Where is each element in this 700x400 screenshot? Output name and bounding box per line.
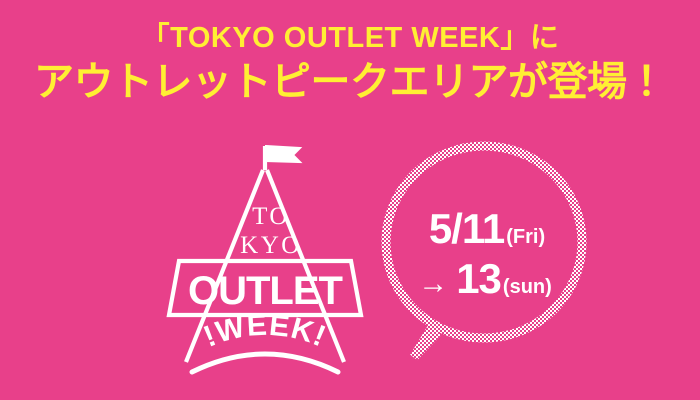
headline-line-2: アウトレットピークエリアが登場！	[0, 62, 700, 102]
arrow-right-icon: →	[418, 267, 448, 300]
date-start-weekday: (Fri)	[506, 226, 545, 249]
logo-text-to: TO	[252, 203, 290, 230]
date-end: 13	[456, 256, 501, 302]
date-end-row: → 13 (sun)	[418, 256, 552, 302]
logo-flag-icon	[266, 146, 300, 162]
speech-bubble-content: 5/11 (Fri) → 13 (sun)	[374, 138, 594, 370]
logo-text-kyo: KYO	[240, 232, 302, 259]
headline-line-1: 「TOKYO OUTLET WEEK」に	[0, 24, 700, 53]
headline: 「TOKYO OUTLET WEEK」に アウトレットピークエリアが登場！	[0, 24, 700, 102]
logo-bottom-arc	[192, 354, 338, 372]
date-start-row: 5/11 (Fri)	[429, 206, 545, 252]
promo-banner: 「TOKYO OUTLET WEEK」に アウトレットピークエリアが登場！ TO…	[0, 0, 700, 400]
logo-text-outlet: OUTLET	[188, 269, 343, 313]
date-end-weekday: (sun)	[503, 276, 552, 299]
date-start: 5/11	[429, 206, 504, 252]
tokyo-outlet-week-logo: TO KYO OUTLET !WEEK!	[150, 140, 380, 375]
